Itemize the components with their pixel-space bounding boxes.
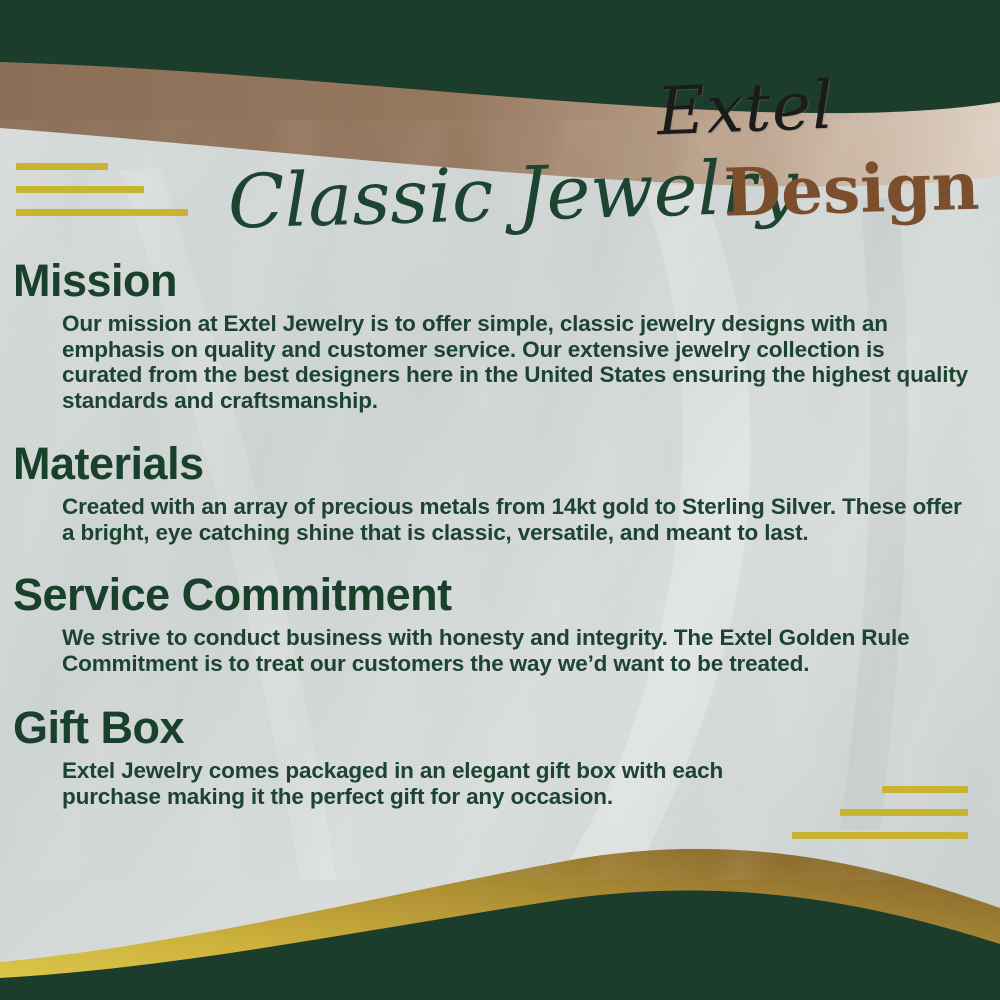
section-mission: Mission Our mission at Extel Jewelry is …	[0, 255, 1000, 413]
brand-logo-extel: Extel	[655, 67, 835, 151]
section-heading-materials: Materials	[0, 438, 1000, 490]
section-heading-mission: Mission	[0, 255, 1000, 307]
section-service-commitment: Service Commitment We strive to conduct …	[0, 569, 1000, 676]
poster-canvas: Extel Classic Jewelry Design Mission Our…	[0, 0, 1000, 1000]
section-heading-gift-box: Gift Box	[0, 702, 1000, 754]
stripe-bar	[792, 832, 968, 839]
title-classic-jewelry: Classic Jewelry	[227, 142, 800, 248]
section-body-mission: Our mission at Extel Jewelry is to offer…	[0, 311, 1000, 413]
section-body-service-commitment: We strive to conduct business with hones…	[0, 625, 1000, 676]
content-sections: Mission Our mission at Extel Jewelry is …	[0, 255, 1000, 809]
stripe-bar	[840, 809, 968, 816]
title-design: Design	[723, 145, 981, 234]
section-materials: Materials Created with an array of preci…	[0, 438, 1000, 545]
section-body-gift-box: Extel Jewelry comes packaged in an elega…	[0, 758, 792, 809]
section-body-materials: Created with an array of precious metals…	[0, 494, 1000, 545]
decorative-stripes-bottom-right	[792, 786, 968, 855]
section-heading-service-commitment: Service Commitment	[0, 569, 1000, 621]
stripe-bar	[882, 786, 968, 793]
